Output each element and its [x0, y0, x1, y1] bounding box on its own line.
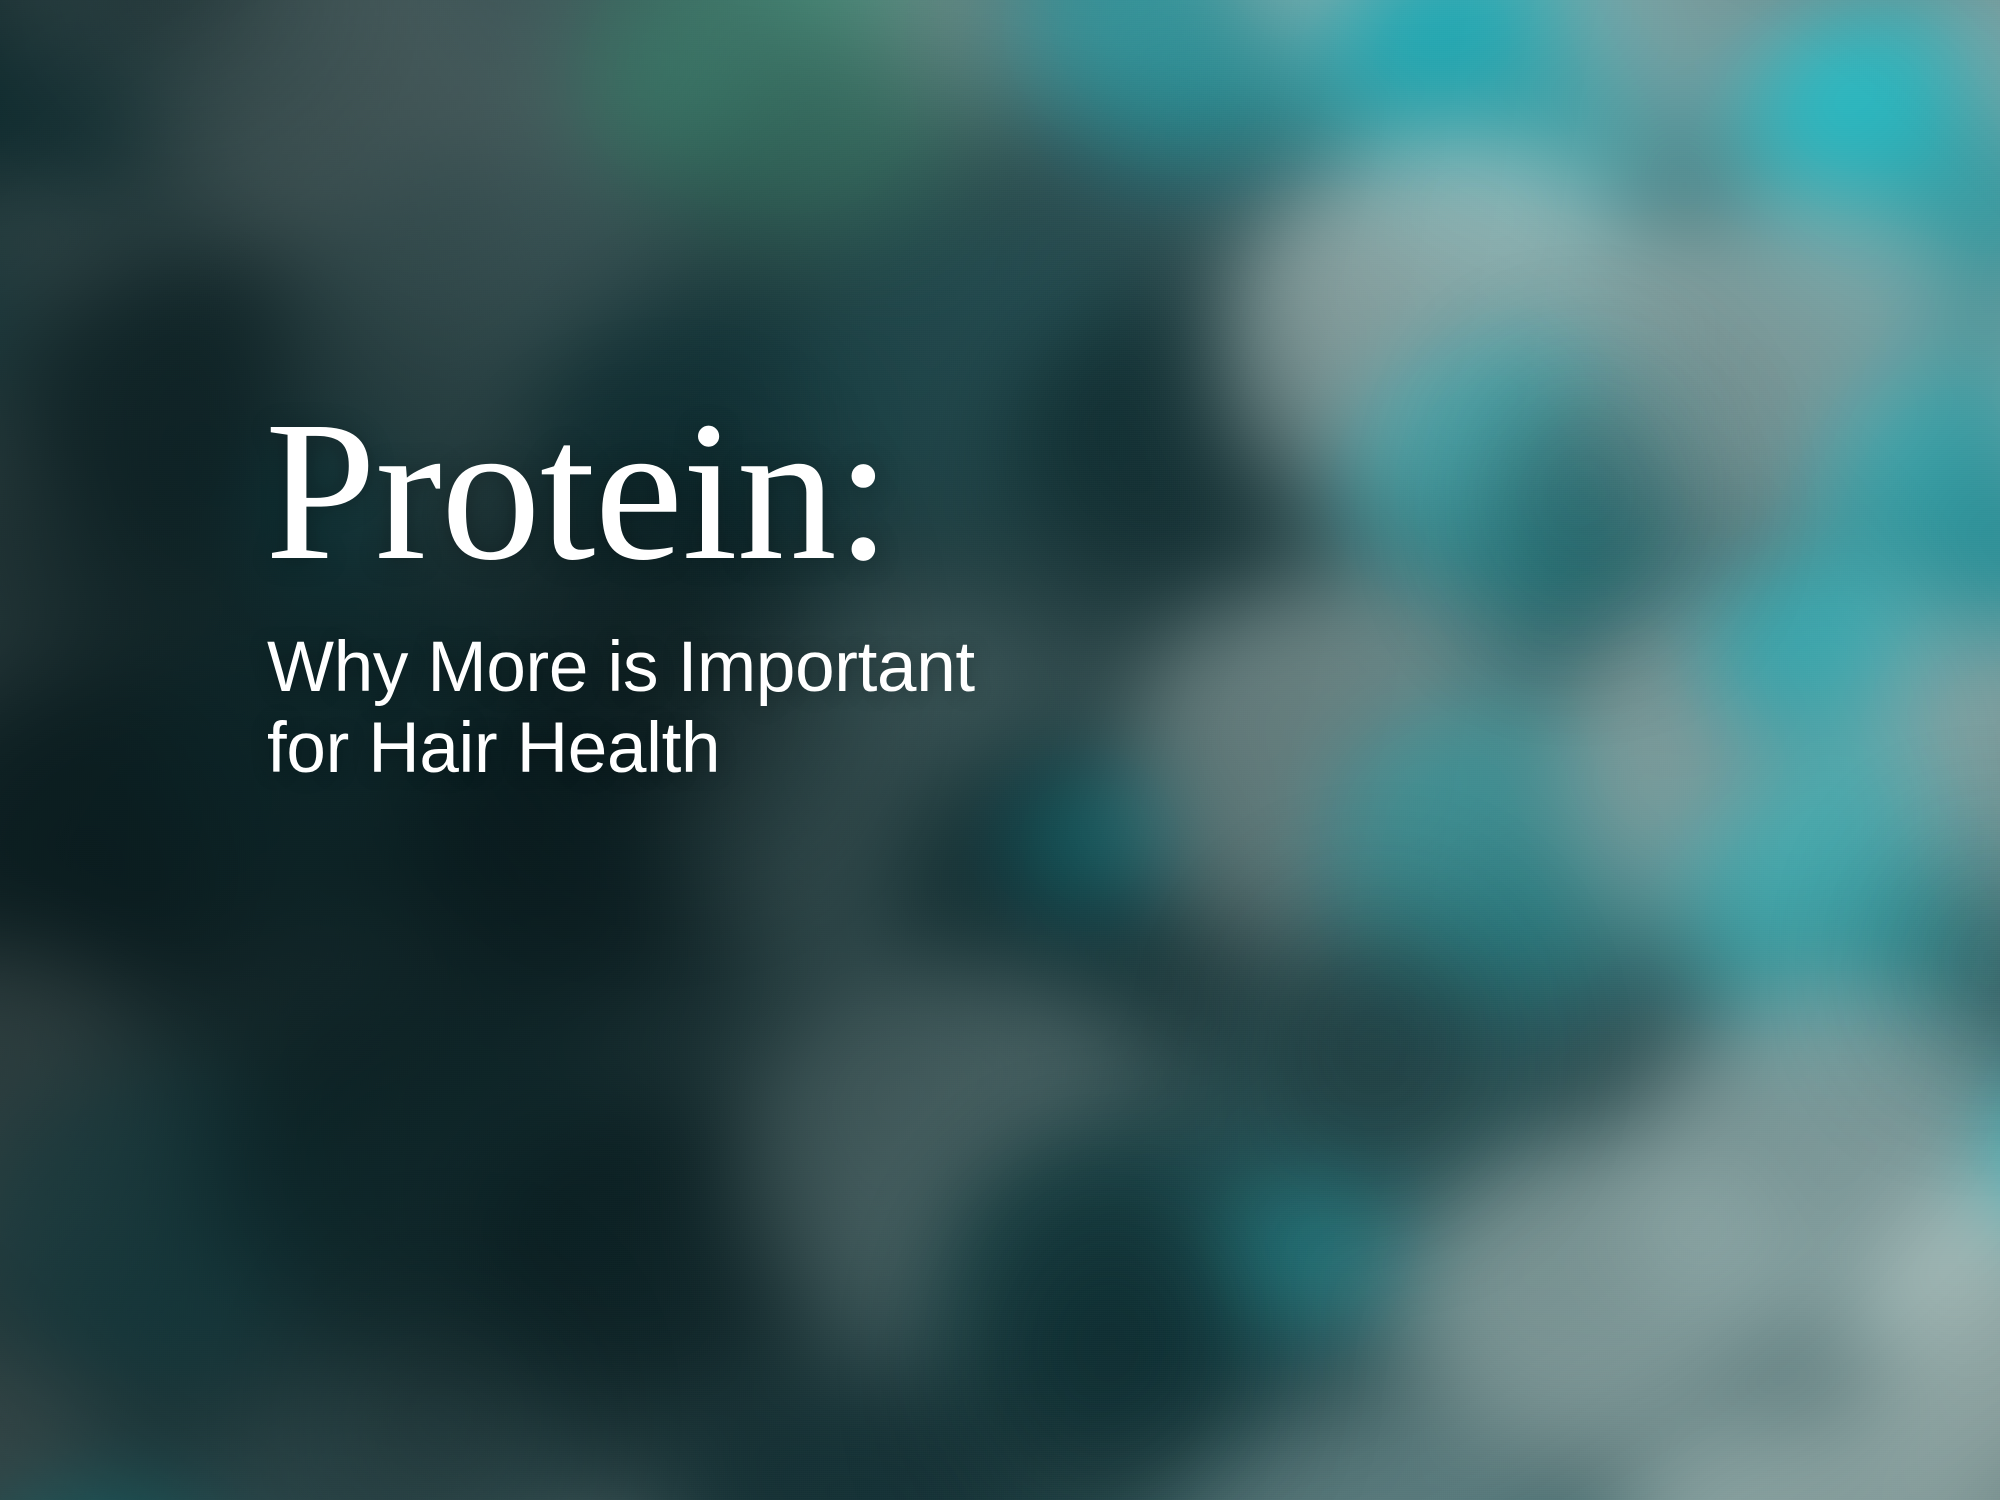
hero-card: Protein: Why More is Important for Hair …: [0, 0, 2000, 1500]
page-subtitle-line-1: Why More is Important: [267, 628, 1265, 709]
cell-shadow: [334, 1288, 564, 1500]
cell-shadow: [974, 1172, 1256, 1500]
cell-shadow: [1256, 904, 1512, 1250]
page-title: Protein:: [265, 400, 1265, 584]
cell-shadow: [1486, 366, 1691, 673]
hero-text-block: Protein: Why More is Important for Hair …: [265, 400, 1265, 790]
cell-shadow: [1896, 846, 2000, 1115]
cell-shadow: [78, 0, 308, 136]
page-subtitle-line-2: for Hair Health: [267, 709, 1265, 790]
page-subtitle: Why More is Important for Hair Health: [267, 628, 1265, 790]
